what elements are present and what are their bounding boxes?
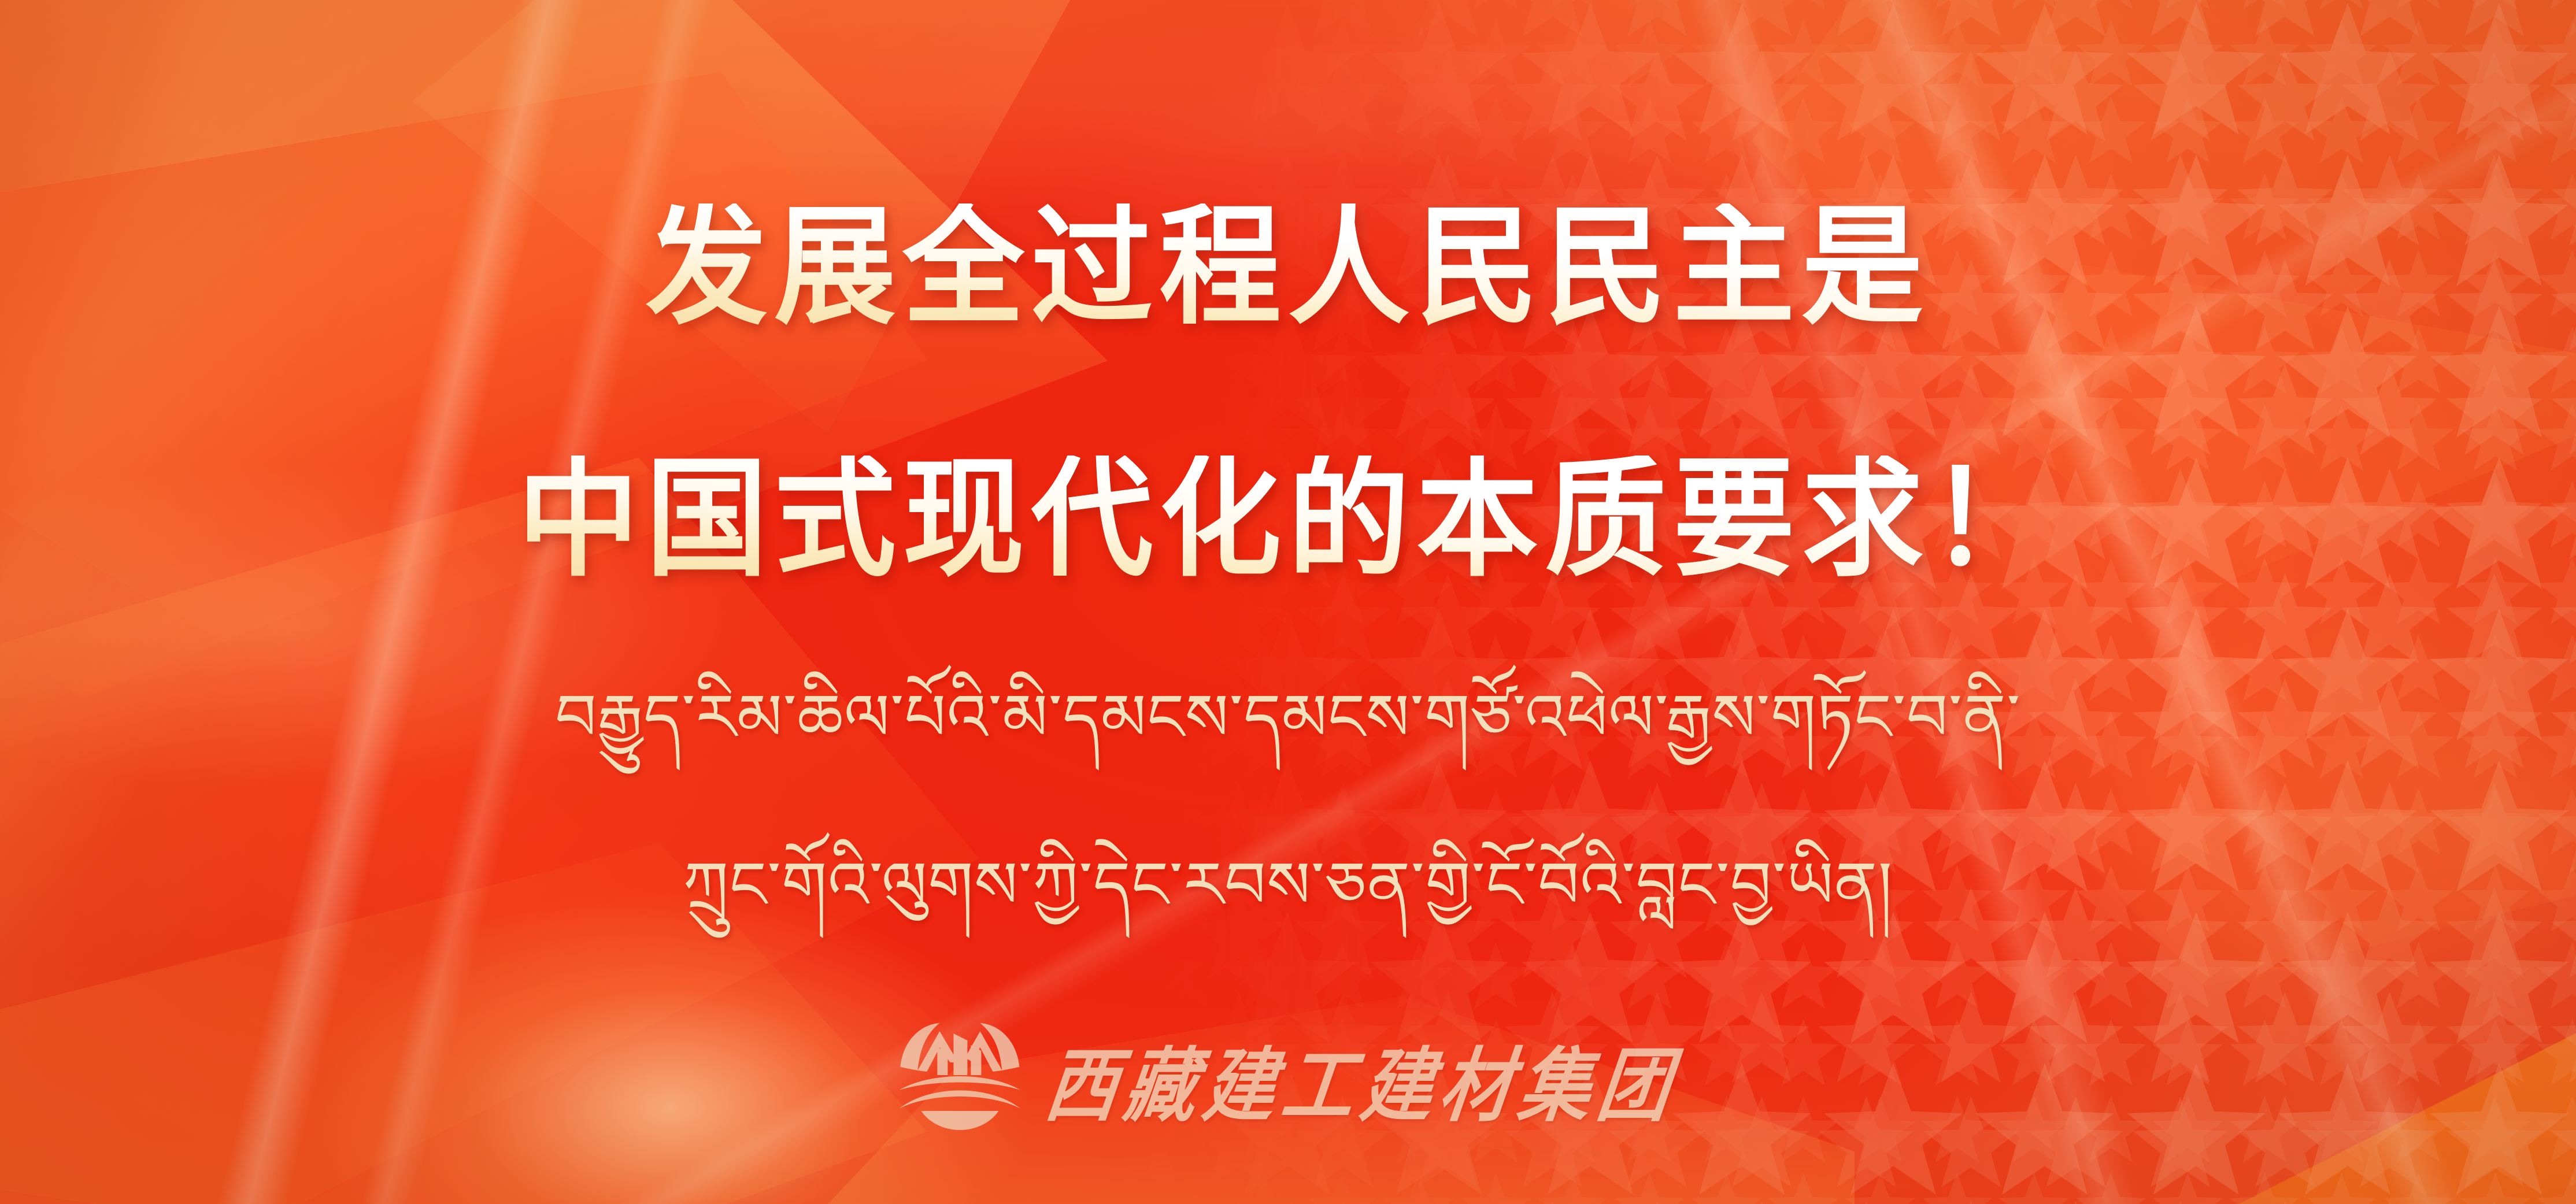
company-logo: 西藏建工建材集团 — [898, 1022, 1678, 1135]
banner-canvas: 发展全过程人民民主是 中国式现代化的本质要求！ བརྒྱུད་རིམ་ཆིལ་པ… — [0, 0, 2576, 1204]
headline-line-2: 中国式现代化的本质要求！ — [517, 455, 2059, 585]
tibetan-subtitle-line-2: ཀྲུང་གོའི་ལུགས་ཀྱི་དེང་རབས་ཅན་གྱི་ངོ་བོའ… — [683, 847, 1893, 924]
mountain-building-emblem-icon — [898, 1022, 1021, 1135]
tibetan-subtitle-line-1: བརྒྱུད་རིམ་ཆིལ་པོའི་མི་དམངས་དམངས་གཙོ་འཕེ… — [555, 680, 2021, 756]
headline-line-1: 发展全过程人民民主是 — [646, 203, 1930, 333]
banner-content: 发展全过程人民民主是 中国式现代化的本质要求！ བརྒྱུད་རིམ་ཆིལ་པ… — [0, 0, 2576, 1204]
company-wordmark: 西藏建工建材集团 — [1040, 1020, 1685, 1137]
